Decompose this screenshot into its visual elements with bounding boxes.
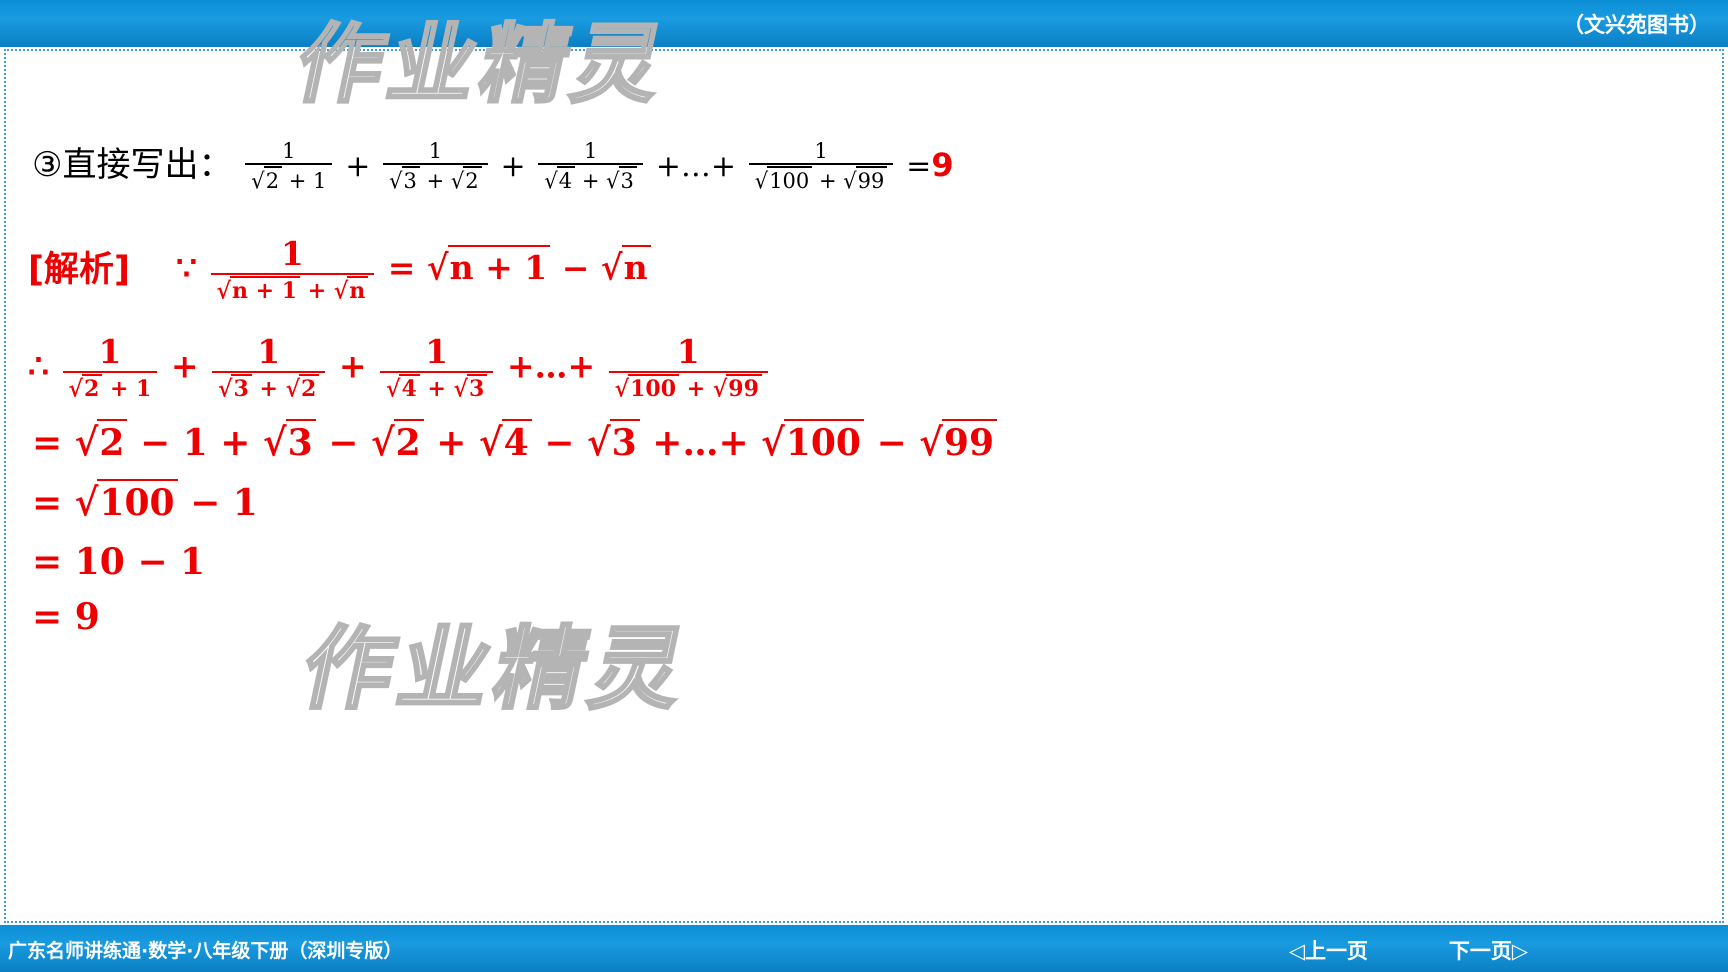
line-c-op-4: − [544,422,574,464]
plus-2: + [500,149,525,184]
analysis-line-f: = 9 [32,596,100,638]
line-c-op-1: − 1 + [140,422,250,464]
identity-fraction: 1 √n + 1 + √n [211,237,375,304]
line-c-sqrt-7: √99 [919,419,997,464]
line-d-sqrt: √100 [75,479,178,524]
line-c-op-3: + [436,422,466,464]
next-page-button[interactable]: 下一页▷ [1449,935,1528,965]
line-d-equals: = [32,482,62,524]
watermark-middle: 作业精灵 [292,596,704,726]
analysis-line-e: = 10 − 1 [32,541,205,583]
identity-minus: − [562,248,590,287]
ellipsis-plus: +…+ [656,149,736,184]
sum-term-1: 1 √2 + 1 [63,335,158,402]
analysis-line-c: = √2 − 1 + √3 − √2 + √4 − √3 +…+ √100 − … [32,419,997,464]
line-c-sqrt-1: √2 [75,419,128,464]
question-marker: ③ [32,145,62,185]
identity-rhs-b: √n [601,245,651,287]
line-d-rest: − 1 [190,482,258,524]
question-term-4: 1 √100 + √99 [749,140,894,193]
plus-1: + [345,149,370,184]
analysis-label: [解析] [28,241,130,292]
line-c-sqrt-5: √3 [587,419,640,464]
analysis-line-a: ∵ 1 √n + 1 + √n = √n + 1 − √n [176,237,651,304]
equals-sign: = [906,149,931,184]
sum-plus-2: + [339,346,367,385]
line-c-ellipsis: +…+ [652,422,748,464]
question-term-2: 1 √3 + √2 [383,140,487,193]
question-term-1: 1 √2 + 1 [245,140,332,193]
sum-term-2: 1 √3 + √2 [212,335,325,402]
identity-rhs-a: √n + 1 [427,245,550,287]
publisher-label: （文兴苑图书） [1563,9,1710,39]
analysis-line-d: = √100 − 1 [32,479,258,524]
line-c-sqrt-4: √4 [479,419,532,464]
question-term-3: 1 √4 + √3 [538,140,642,193]
question-line: ③直接写出： 1 √2 + 1 + 1 √3 + √2 + 1 √4 + √3 … [32,137,954,193]
line-c-op-5: − [877,422,907,464]
because-symbol: ∵ [176,248,197,287]
book-title: 广东名师讲练通·数学·八年级下册（深圳专版） [8,936,402,963]
line-c-op-2: − [328,422,358,464]
sum-plus-1: + [171,346,199,385]
identity-equals: = [388,248,416,287]
therefore-symbol: ∴ [28,346,49,385]
sum-ellipsis-plus: +…+ [507,346,595,385]
line-c-equals: = [32,422,62,464]
sum-term-3: 1 √4 + √3 [380,335,493,402]
prev-page-button[interactable]: ◁上一页 [1289,935,1368,965]
question-answer: 9 [931,146,953,184]
question-prompt: 直接写出： [62,145,232,185]
analysis-line-b: ∴ 1 √2 + 1 + 1 √3 + √2 + 1 √4 + √3 +…+ 1… [28,335,770,402]
page-content-frame: ③直接写出： 1 √2 + 1 + 1 √3 + √2 + 1 √4 + √3 … [4,49,1724,923]
line-c-sqrt-6: √100 [761,419,864,464]
bottom-bar: 广东名师讲练通·数学·八年级下册（深圳专版） ◁上一页 下一页▷ [0,925,1728,972]
line-c-sqrt-2: √3 [263,419,316,464]
line-c-sqrt-3: √2 [371,419,424,464]
top-bar: （文兴苑图书） [0,0,1728,47]
sum-term-4: 1 √100 + √99 [609,335,768,402]
